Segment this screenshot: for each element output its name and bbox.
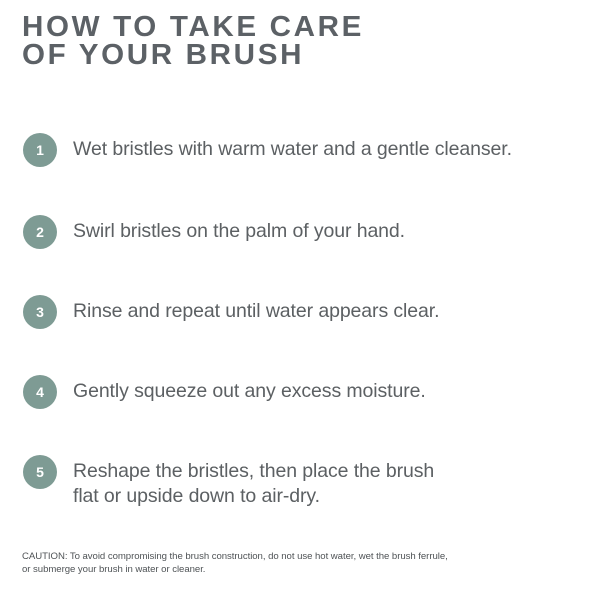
step-text-5-line-1: Reshape the bristles, then place the bru… [73,460,434,482]
page-title: HOW TO TAKE CARE OF YOUR BRUSH [22,13,582,69]
step-text-1-line-1: Wet bristles with warm water and a gentl… [73,138,512,160]
care-instructions-poster: HOW TO TAKE CARE OF YOUR BRUSH 1 Wet bri… [0,0,600,600]
page-title-line-1: HOW TO TAKE CARE [22,13,593,41]
step-text-3: Rinse and repeat until water appears cle… [73,295,439,324]
step-text-2-line-1: Swirl bristles on the palm of your hand. [73,220,405,242]
step-item-3: 3 Rinse and repeat until water appears c… [23,295,583,329]
caution-note-line-2: or submerge your brush in water or clean… [22,564,567,577]
step-text-1: Wet bristles with warm water and a gentl… [73,133,512,162]
step-number-badge-4: 4 [23,375,57,409]
caution-note: CAUTION: To avoid compromising the brush… [22,551,567,576]
step-text-2: Swirl bristles on the palm of your hand. [73,215,405,244]
step-text-3-line-1: Rinse and repeat until water appears cle… [73,300,439,322]
step-text-5-line-2: flat or upside down to air-dry. [73,484,434,509]
step-number-badge-3: 3 [23,295,57,329]
step-number-badge-2: 2 [23,215,57,249]
step-item-2: 2 Swirl bristles on the palm of your han… [23,215,583,249]
step-text-4-line-1: Gently squeeze out any excess moisture. [73,380,426,402]
step-text-4: Gently squeeze out any excess moisture. [73,375,426,404]
caution-note-line-1: CAUTION: To avoid compromising the brush… [22,551,567,564]
step-item-5: 5 Reshape the bristles, then place the b… [23,455,583,509]
step-item-1: 1 Wet bristles with warm water and a gen… [23,133,583,167]
step-text-5: Reshape the bristles, then place the bru… [73,455,434,509]
step-number-badge-5: 5 [23,455,57,489]
step-item-4: 4 Gently squeeze out any excess moisture… [23,375,583,409]
step-number-badge-1: 1 [23,133,57,167]
page-title-line-2: OF YOUR BRUSH [22,41,593,69]
